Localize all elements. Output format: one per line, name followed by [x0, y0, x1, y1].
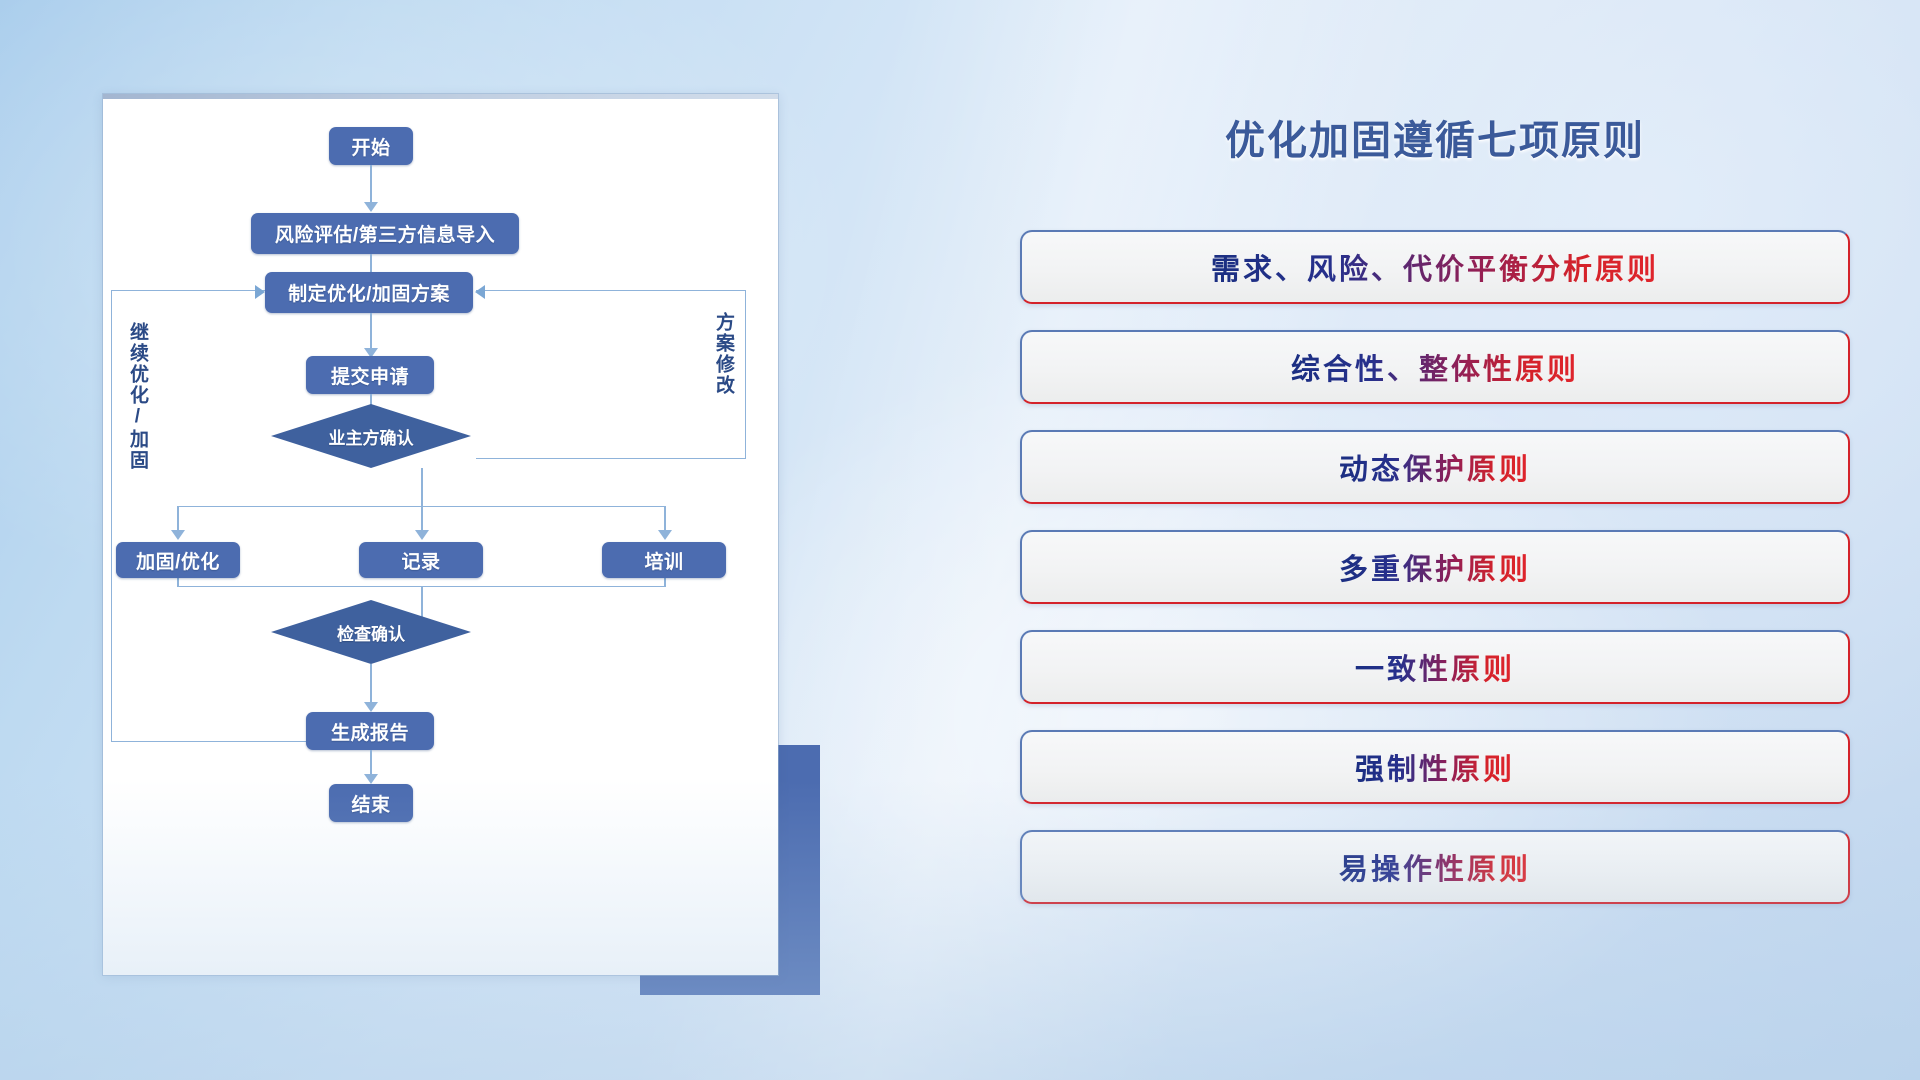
flowchart-diagram: 开始 风险评估/第三方信息导入 制定优化/加固方案 提交申请 [103, 94, 778, 975]
flow-node-label: 加固/优化 [136, 547, 220, 574]
principle-card[interactable]: 强制性原则 [1020, 730, 1850, 804]
principle-label: 动态保护原则 [1339, 446, 1531, 488]
principle-card[interactable]: 动态保护原则 [1020, 430, 1850, 504]
flow-node-label: 风险评估/第三方信息导入 [275, 220, 495, 247]
flow-node-label: 业主方确认 [329, 424, 414, 449]
flow-node-training[interactable]: 培训 [602, 542, 726, 578]
principles-panel: 优化加固遵循七项原则 需求、风险、代价平衡分析原则 综合性、整体性原则 动态保护… [1020, 90, 1850, 1020]
arrow-right-icon [255, 285, 265, 299]
principle-card[interactable]: 需求、风险、代价平衡分析原则 [1020, 230, 1850, 304]
principle-card[interactable]: 多重保护原则 [1020, 530, 1850, 604]
principle-label: 一致性原则 [1355, 646, 1515, 688]
arrow-down-icon [415, 530, 429, 540]
principles-list: 需求、风险、代价平衡分析原则 综合性、整体性原则 动态保护原则 多重保护原则 一… [1020, 230, 1850, 930]
arrow-left-icon [475, 285, 485, 299]
loop-label-plan-revision: 方案修改 [713, 312, 733, 396]
flow-node-generate-report[interactable]: 生成报告 [306, 712, 434, 750]
loop-path-right [476, 290, 746, 459]
principle-label: 易操作性原则 [1339, 846, 1531, 888]
principle-label: 多重保护原则 [1339, 546, 1531, 588]
principles-title: 优化加固遵循七项原则 [1020, 108, 1850, 166]
flow-node-submit-application[interactable]: 提交申请 [306, 356, 434, 394]
flow-node-label: 制定优化/加固方案 [288, 279, 450, 306]
edge-check-to-report [370, 664, 372, 706]
flowchart-card: 开始 风险评估/第三方信息导入 制定优化/加固方案 提交申请 [103, 94, 778, 975]
principle-card[interactable]: 易操作性原则 [1020, 830, 1850, 904]
arrow-down-icon [364, 702, 378, 712]
arrow-down-icon [658, 530, 672, 540]
flow-node-make-plan[interactable]: 制定优化/加固方案 [265, 272, 473, 313]
flow-node-label: 检查确认 [337, 620, 405, 645]
flow-node-label: 记录 [401, 547, 440, 574]
flow-node-label: 开始 [351, 133, 390, 160]
fan-out-center-stem [421, 468, 423, 534]
loop-label-continue-optimize: 继续优化/加固 [127, 322, 147, 471]
arrow-down-icon [364, 774, 378, 784]
principle-label: 综合性、整体性原则 [1291, 346, 1579, 388]
principle-card[interactable]: 一致性原则 [1020, 630, 1850, 704]
edge-start-to-risk [370, 165, 372, 206]
flow-node-record[interactable]: 记录 [359, 542, 483, 578]
arrow-down-icon [364, 202, 378, 212]
principle-label: 强制性原则 [1355, 746, 1515, 788]
principle-label: 需求、风险、代价平衡分析原则 [1211, 246, 1659, 288]
flow-node-label: 生成报告 [331, 718, 409, 745]
principle-card[interactable]: 综合性、整体性原则 [1020, 330, 1850, 404]
flow-node-start[interactable]: 开始 [329, 127, 413, 165]
slide-canvas: 开始 风险评估/第三方信息导入 制定优化/加固方案 提交申请 [0, 0, 1920, 1080]
flow-node-label: 提交申请 [331, 362, 409, 389]
flow-node-label: 结束 [351, 790, 390, 817]
arrow-down-icon [171, 530, 185, 540]
edge-plan-to-submit [370, 313, 372, 352]
flow-node-label: 培训 [644, 547, 683, 574]
flow-node-reinforce-optimize[interactable]: 加固/优化 [116, 542, 240, 578]
flow-node-risk-assessment[interactable]: 风险评估/第三方信息导入 [251, 213, 519, 254]
flow-node-end[interactable]: 结束 [329, 784, 413, 822]
